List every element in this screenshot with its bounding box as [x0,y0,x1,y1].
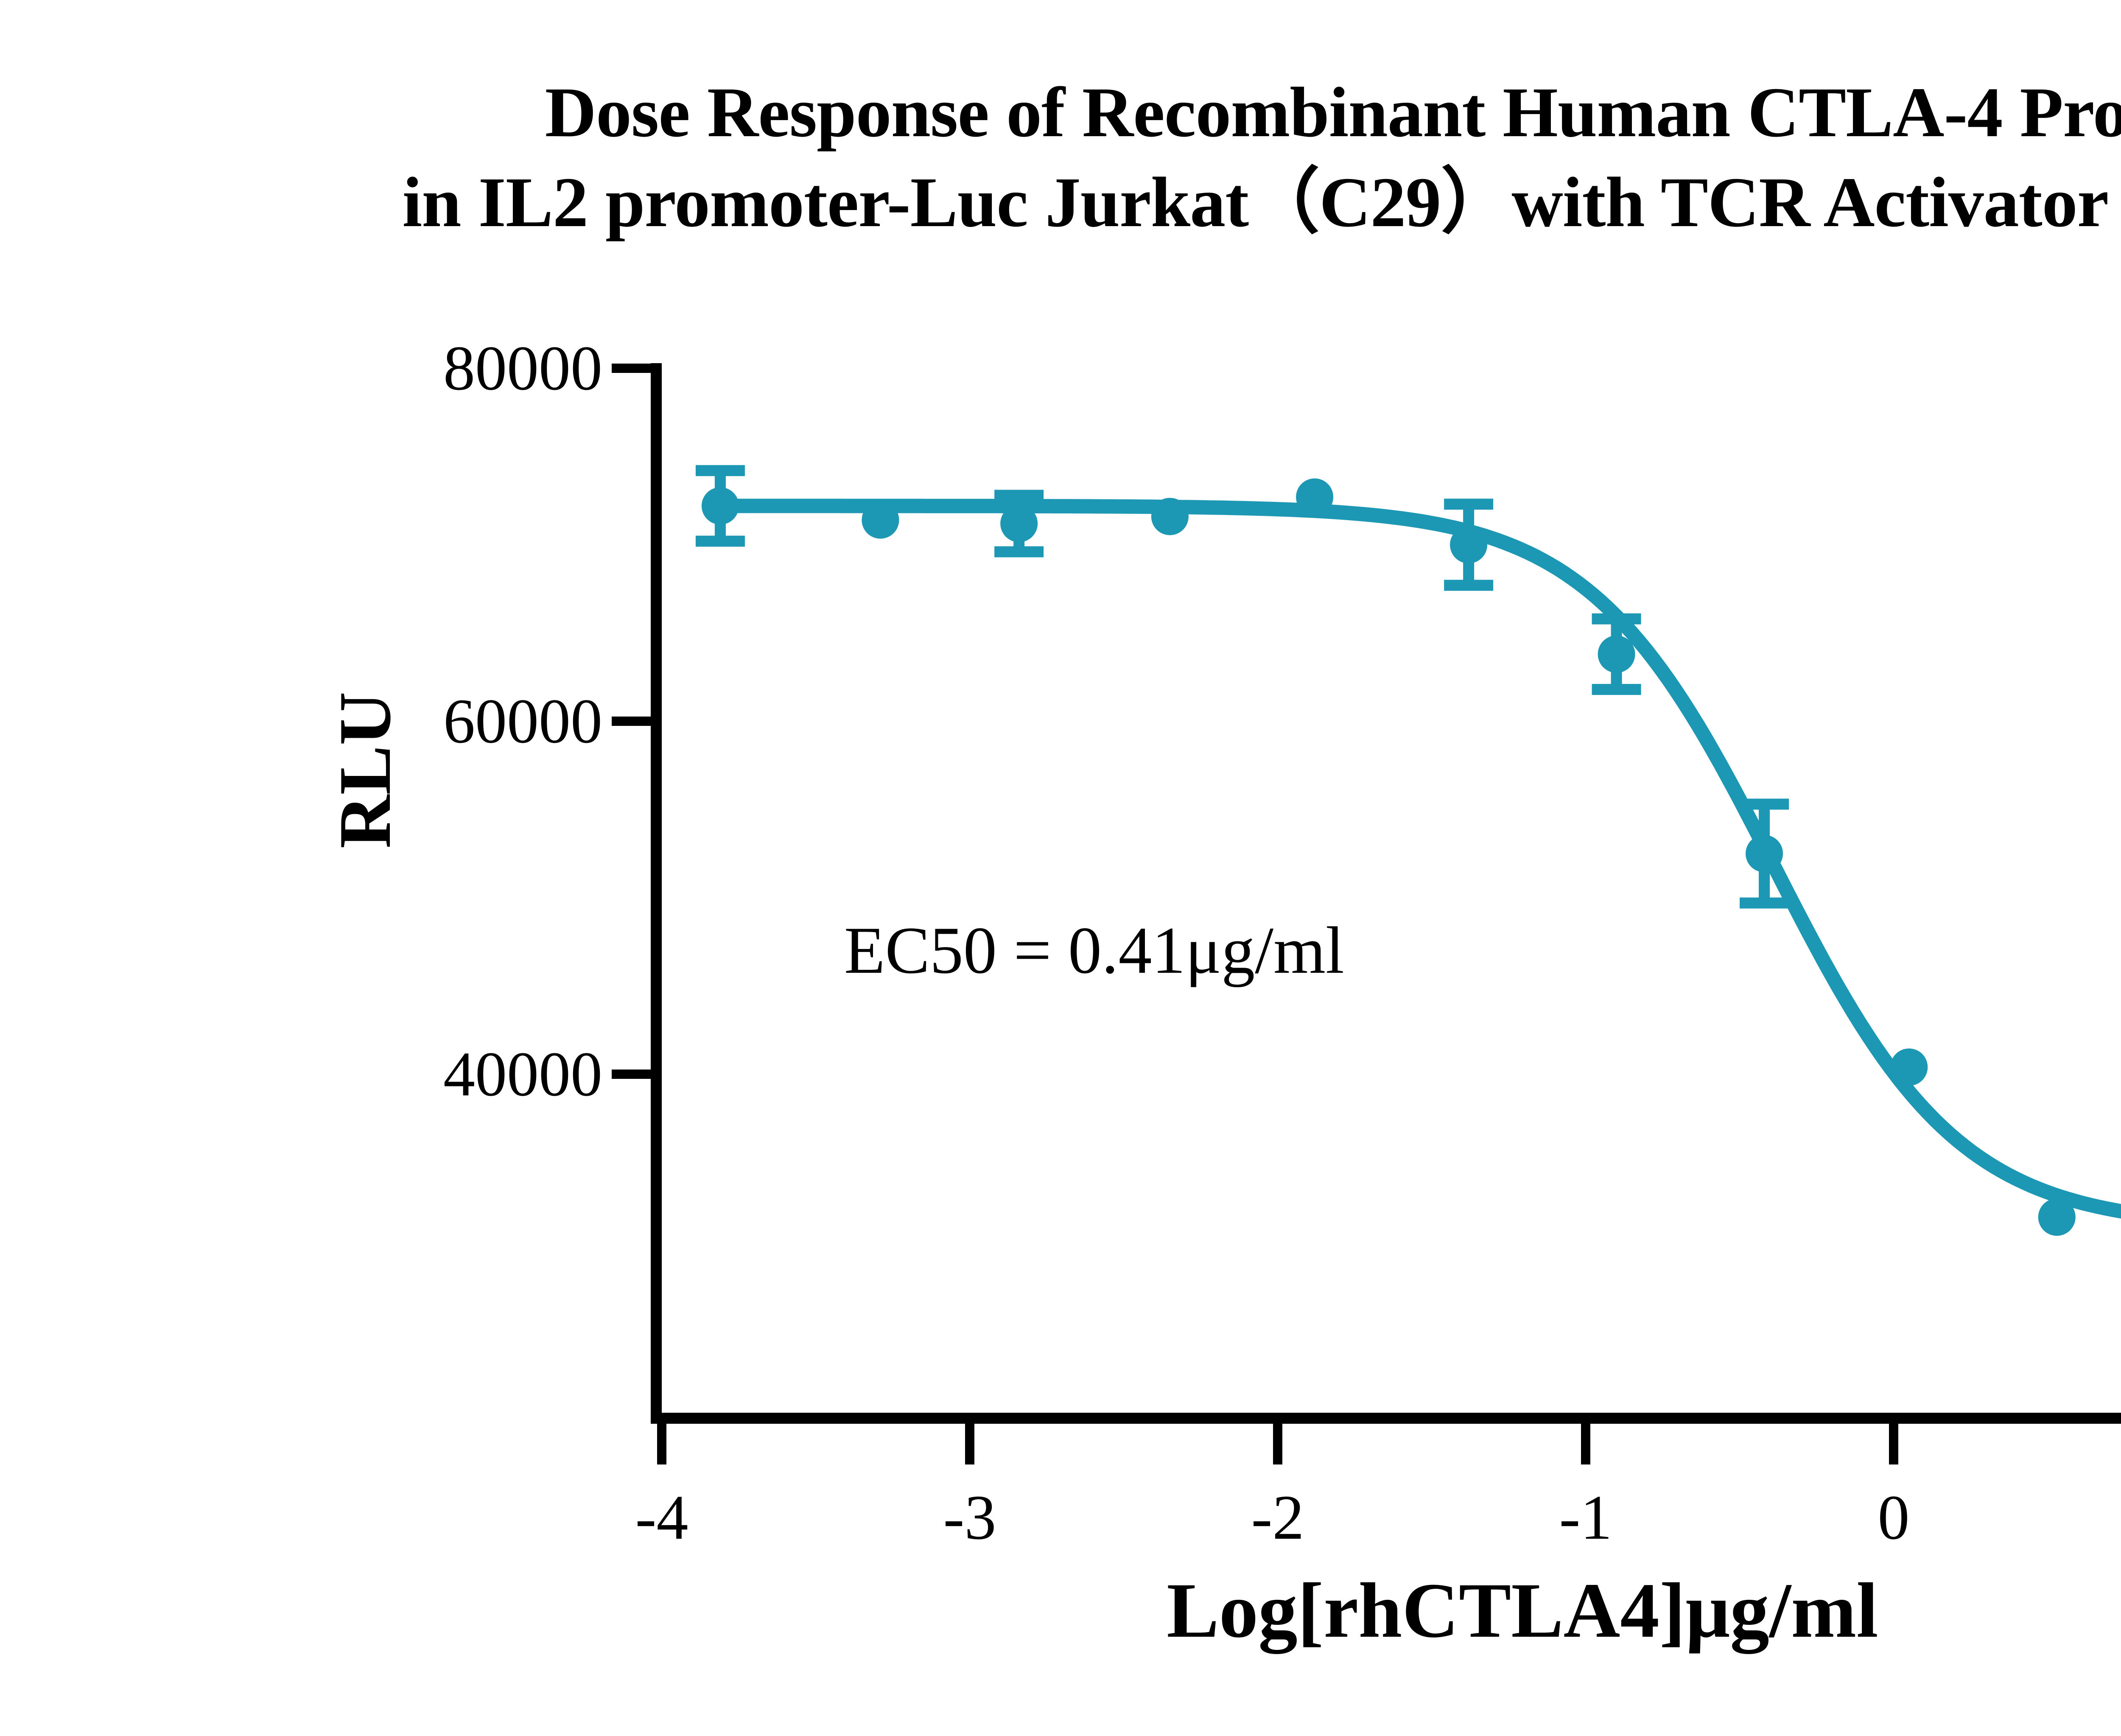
y-tick-mark [612,364,651,373]
x-tick-mark [657,1424,666,1464]
data-point [1746,835,1783,872]
y-axis-spine [651,363,662,1415]
data-point [2038,1198,2076,1236]
plot-area: 800006000040000 -4-3-2-101 [662,366,2121,1413]
data-point [1296,479,1333,516]
y-tick-mark [612,717,651,726]
x-tick-label: 0 [1878,1486,1910,1549]
data-point [702,487,739,524]
chart-title-line-2: in IL2 promoter-Luc Jurkat（C29）with TCR … [0,158,2121,248]
y-axis-title: RLU [322,692,408,848]
data-point [862,501,899,539]
y-tick-label: 80000 [443,336,602,400]
data-point-group [702,479,2121,1245]
chart-title: Dose Response of Recombinant Human CTLA-… [0,68,2121,247]
chart-title-line-1: Dose Response of Recombinant Human CTLA-… [0,68,2121,158]
x-axis-spine [651,1413,2121,1424]
data-series-layer [662,366,2121,1413]
x-tick-mark [965,1424,974,1464]
chart-figure: Dose Response of Recombinant Human CTLA-… [0,0,2121,1736]
x-tick-label: -3 [943,1486,996,1549]
x-tick-label: -4 [635,1486,688,1549]
data-point [1000,505,1038,542]
y-tick-mark [612,1070,651,1079]
x-tick-label: -1 [1559,1486,1612,1549]
data-point [1598,636,1635,673]
x-tick-mark [1889,1424,1898,1464]
x-tick-label: -2 [1251,1486,1304,1549]
error-bar-group [696,470,1789,903]
data-point [1450,526,1487,563]
data-point [1890,1048,1928,1086]
fit-curve [720,506,2121,1221]
x-tick-mark [1581,1424,1590,1464]
x-axis-title: Log[rhCTLA4]μg/ml [0,1565,2121,1656]
x-tick-mark [1273,1424,1282,1464]
y-tick-label: 60000 [443,689,602,753]
y-tick-label: 40000 [443,1042,602,1106]
data-point [1151,498,1189,535]
